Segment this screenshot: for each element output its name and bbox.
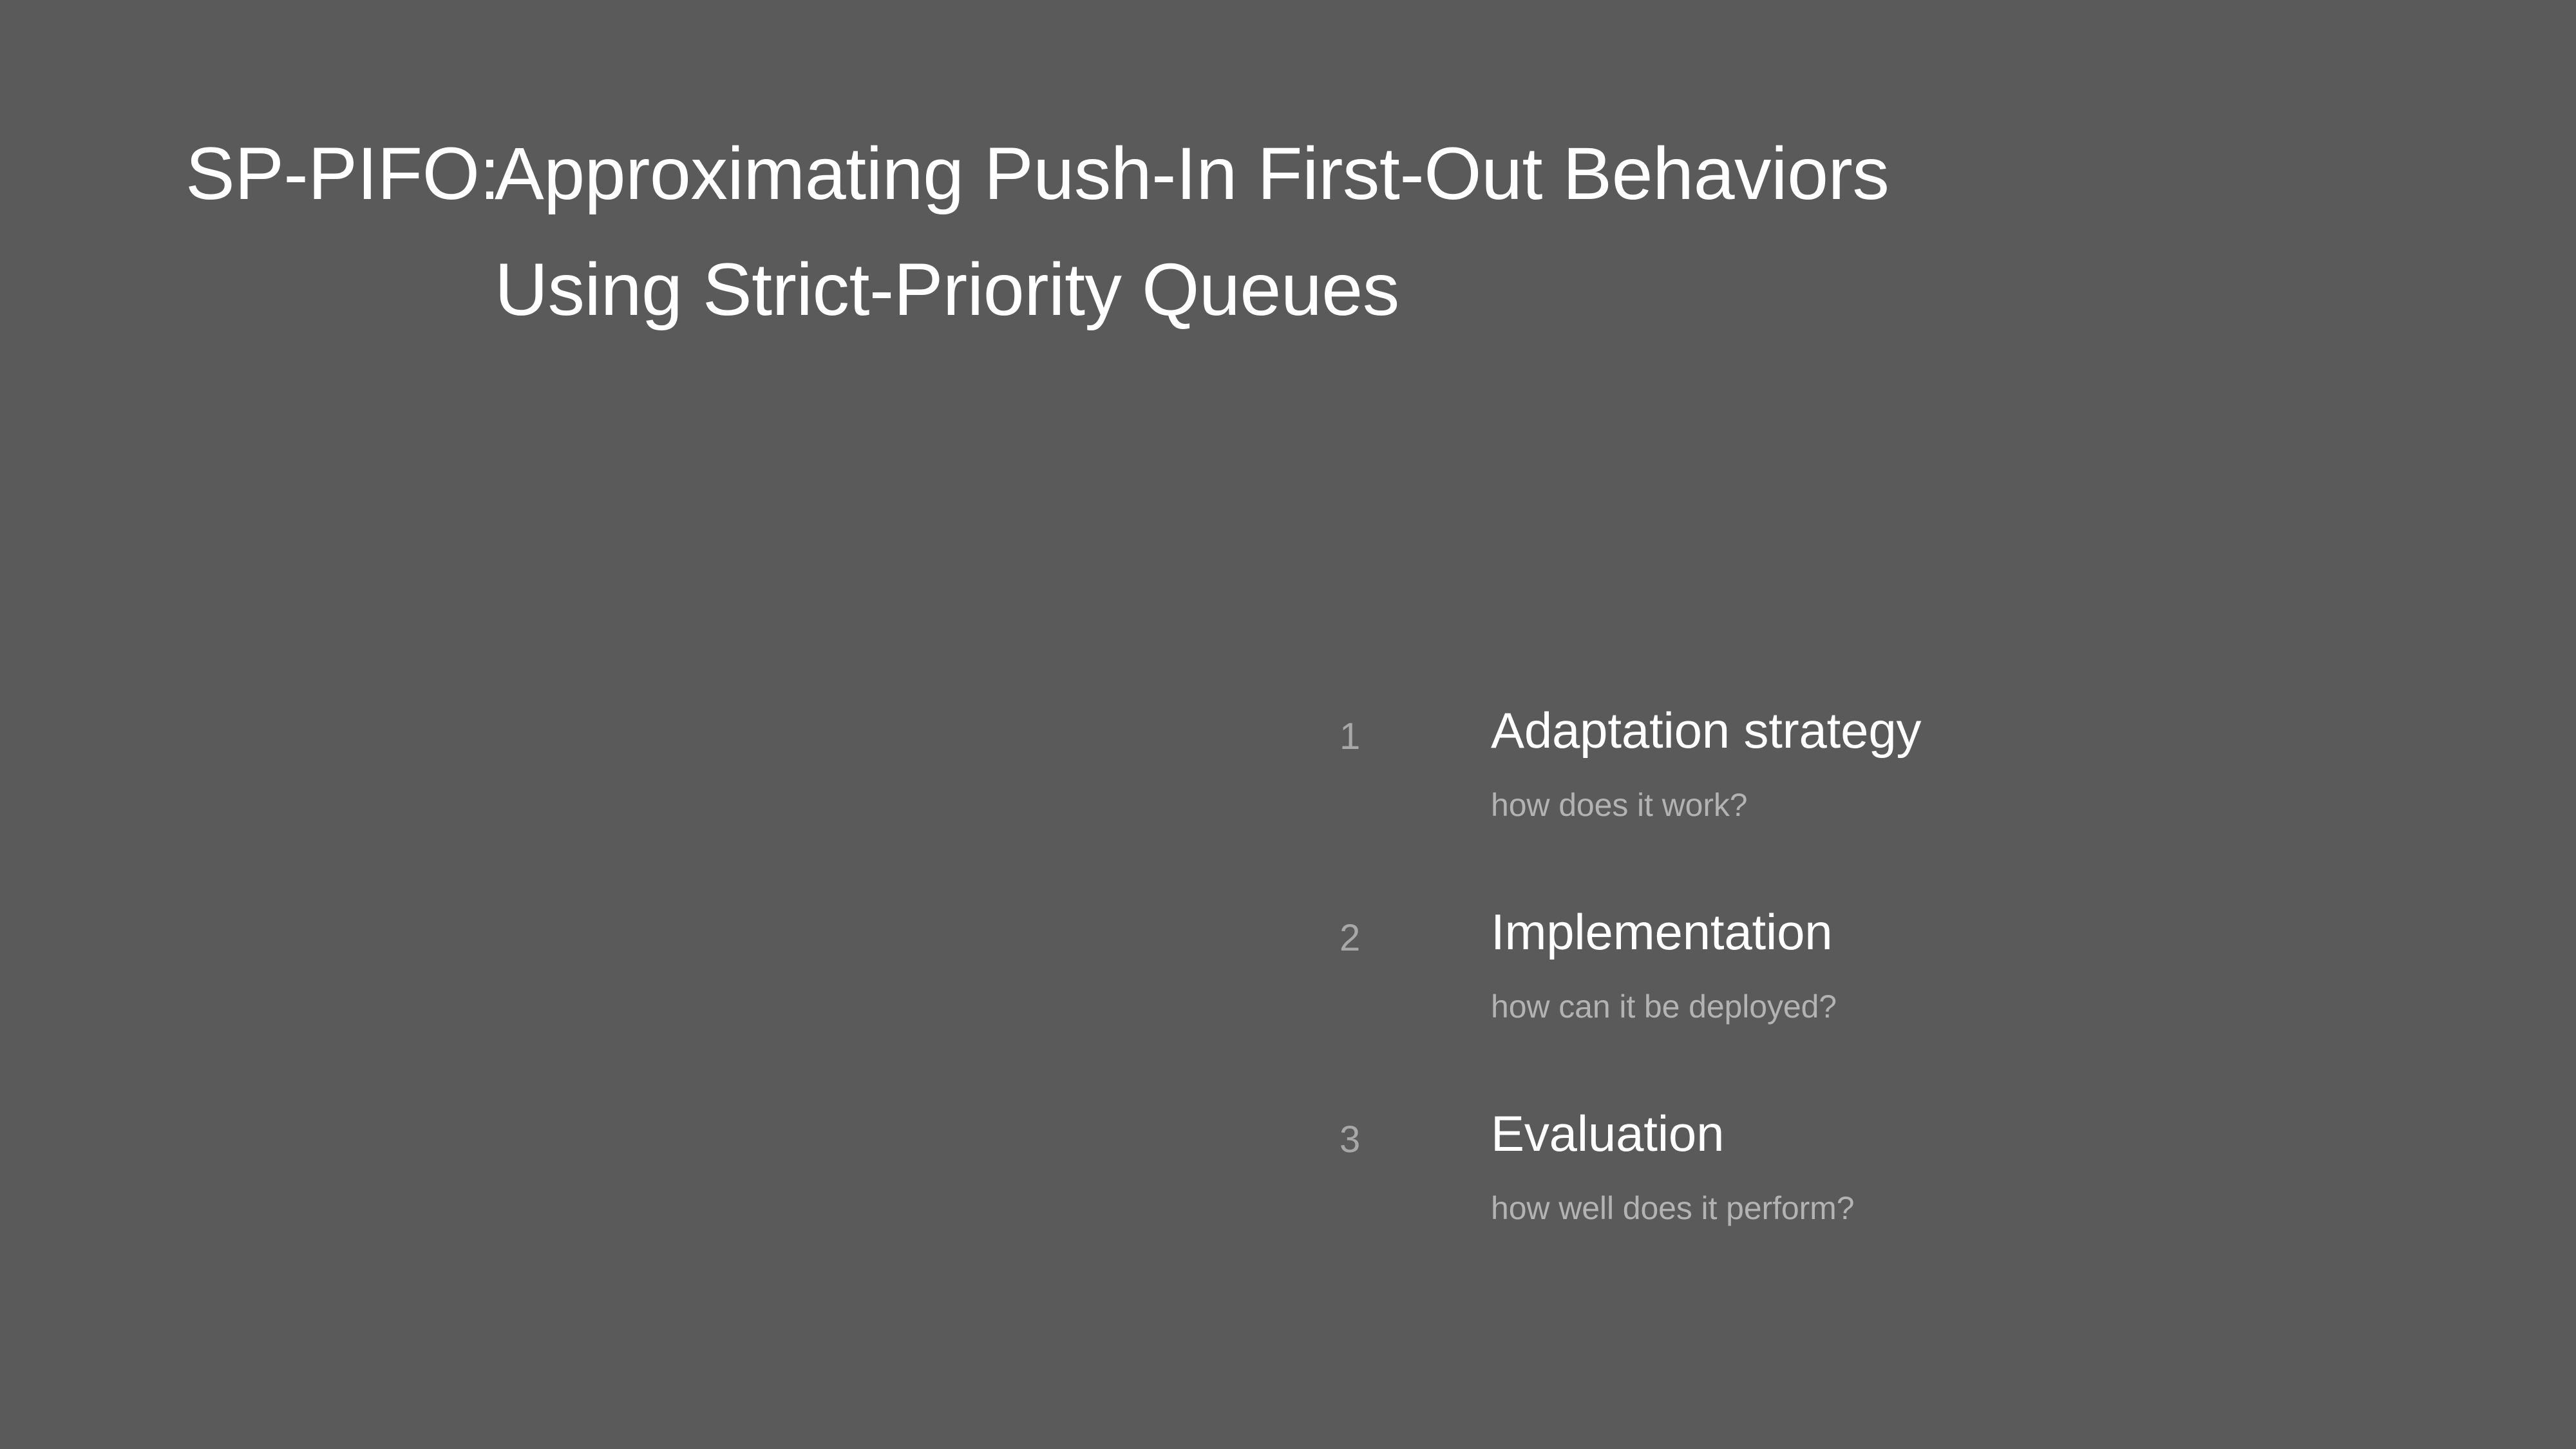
agenda-item-heading: Implementation xyxy=(1491,900,2296,957)
agenda-item-number: 3 xyxy=(1340,1121,1468,1159)
agenda-item-heading: Evaluation xyxy=(1491,1102,2296,1159)
agenda-item-number: 1 xyxy=(1340,718,1468,755)
agenda-item[interactable]: 1 Adaptation strategy how does it work? xyxy=(1340,699,2306,900)
title-line-1-rest: Approximating Push-In First-Out Behavior… xyxy=(495,133,1889,215)
agenda-list: 1 Adaptation strategy how does it work? … xyxy=(1340,699,2306,1303)
agenda-item-number: 2 xyxy=(1340,920,1468,957)
title-line-2: Using Strict-Priority Queues xyxy=(185,232,2246,348)
presentation-slide: SP-PIFO:Approximating Push-In First-Out … xyxy=(0,0,2576,1449)
agenda-item-subtitle: how can it be deployed? xyxy=(1491,957,2296,1023)
title-line-1: SP-PIFO:Approximating Push-In First-Out … xyxy=(185,116,2246,232)
agenda-item-text: Evaluation how well does it perform? xyxy=(1491,1102,2296,1224)
agenda-item[interactable]: 3 Evaluation how well does it perform? xyxy=(1340,1102,2306,1303)
agenda-item-subtitle: how well does it perform? xyxy=(1491,1159,2296,1224)
agenda-item-text: Implementation how can it be deployed? xyxy=(1491,900,2296,1023)
agenda-item-subtitle: how does it work? xyxy=(1491,755,2296,821)
agenda-item-heading: Adaptation strategy xyxy=(1491,699,2296,755)
title-prefix: SP-PIFO: xyxy=(185,116,495,232)
agenda-item-text: Adaptation strategy how does it work? xyxy=(1491,699,2296,821)
agenda-item[interactable]: 2 Implementation how can it be deployed? xyxy=(1340,900,2306,1102)
slide-title: SP-PIFO:Approximating Push-In First-Out … xyxy=(185,116,2246,348)
